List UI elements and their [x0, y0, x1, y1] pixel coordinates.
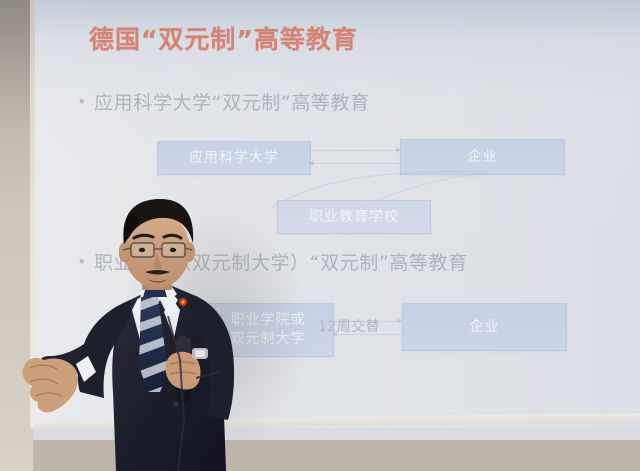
speaker-figure [0, 0, 640, 471]
presentation-photo: 德国“双元制”高等教育 • 应用科学大学“双元制”高等教育 应用科学大学 企业 [0, 0, 640, 471]
